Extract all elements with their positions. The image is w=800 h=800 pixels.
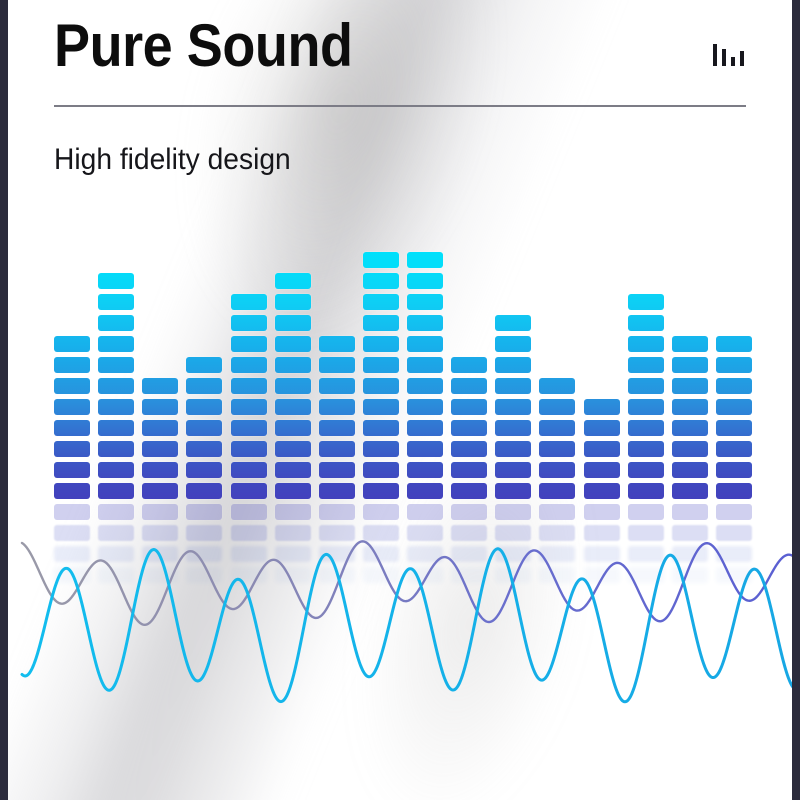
poster-card: Pure Sound High fidelity design — [0, 0, 800, 800]
equalizer-segment — [98, 399, 134, 415]
equalizer-icon-bar-2 — [722, 49, 726, 66]
equalizer-icon-bar-3 — [731, 57, 735, 66]
equalizer-segment — [363, 483, 399, 499]
equalizer-segment — [363, 441, 399, 457]
equalizer-segment — [142, 441, 178, 457]
equalizer-segment — [716, 336, 752, 352]
equalizer-column — [231, 294, 267, 499]
equalizer-segment — [539, 462, 575, 478]
equalizer-segment — [275, 294, 311, 310]
equalizer-column — [98, 273, 134, 499]
waveform-group — [8, 507, 792, 717]
equalizer-column — [54, 336, 90, 499]
equalizer-segment — [539, 441, 575, 457]
equalizer-segment — [407, 273, 443, 289]
equalizer-chart — [8, 229, 792, 499]
equalizer-segment — [319, 357, 355, 373]
lower-waveform — [22, 549, 796, 702]
equalizer-column — [319, 336, 355, 499]
equalizer-segment — [539, 399, 575, 415]
equalizer-segment — [672, 357, 708, 373]
equalizer-segment — [319, 420, 355, 436]
equalizer-segment — [231, 462, 267, 478]
equalizer-segment — [231, 357, 267, 373]
equalizer-icon — [713, 40, 744, 66]
equalizer-segment — [407, 441, 443, 457]
equalizer-segment — [407, 483, 443, 499]
equalizer-segment — [231, 378, 267, 394]
equalizer-segment — [319, 378, 355, 394]
page-title: Pure Sound — [54, 14, 353, 77]
equalizer-segment — [186, 441, 222, 457]
equalizer-segment — [363, 252, 399, 268]
equalizer-segment — [451, 441, 487, 457]
equalizer-segment — [363, 273, 399, 289]
equalizer-segment — [231, 420, 267, 436]
equalizer-segment — [98, 378, 134, 394]
equalizer-segment — [142, 378, 178, 394]
equalizer-column — [186, 357, 222, 499]
equalizer-segment — [716, 483, 752, 499]
equalizer-segment — [628, 399, 664, 415]
equalizer-segment — [186, 420, 222, 436]
equalizer-segment — [495, 357, 531, 373]
equalizer-segment — [186, 357, 222, 373]
equalizer-segment — [716, 357, 752, 373]
equalizer-segment — [407, 336, 443, 352]
equalizer-segment — [407, 399, 443, 415]
equalizer-column — [539, 378, 575, 499]
equalizer-segment — [231, 294, 267, 310]
equalizer-segment — [451, 357, 487, 373]
equalizer-segment — [231, 441, 267, 457]
equalizer-segment — [54, 357, 90, 373]
equalizer-segment — [716, 399, 752, 415]
equalizer-segment — [628, 315, 664, 331]
equalizer-segment — [319, 441, 355, 457]
equalizer-segment — [628, 420, 664, 436]
equalizer-segment — [672, 462, 708, 478]
equalizer-segment — [98, 462, 134, 478]
equalizer-segment — [716, 420, 752, 436]
equalizer-icon-bar-1 — [713, 44, 717, 66]
equalizer-segment — [628, 483, 664, 499]
equalizer-segment — [319, 336, 355, 352]
header-divider — [54, 105, 746, 107]
equalizer-segment — [716, 378, 752, 394]
equalizer-segment — [495, 378, 531, 394]
equalizer-segment — [495, 441, 531, 457]
equalizer-segment — [495, 483, 531, 499]
equalizer-segment — [319, 483, 355, 499]
equalizer-column — [407, 252, 443, 499]
equalizer-segment — [363, 336, 399, 352]
equalizer-segment — [628, 441, 664, 457]
equalizer-segment — [363, 357, 399, 373]
equalizer-segment — [672, 399, 708, 415]
equalizer-segment — [186, 462, 222, 478]
equalizer-segment — [716, 462, 752, 478]
equalizer-segment — [98, 294, 134, 310]
equalizer-segment — [628, 357, 664, 373]
equalizer-segment — [716, 441, 752, 457]
equalizer-segment — [628, 378, 664, 394]
equalizer-segment — [98, 441, 134, 457]
equalizer-segment — [319, 399, 355, 415]
equalizer-segment — [672, 420, 708, 436]
equalizer-segment — [231, 399, 267, 415]
equalizer-segment — [539, 483, 575, 499]
equalizer-segment — [186, 378, 222, 394]
equalizer-segment — [275, 273, 311, 289]
equalizer-segment — [407, 252, 443, 268]
equalizer-segment — [142, 483, 178, 499]
equalizer-segment — [275, 420, 311, 436]
equalizer-segment — [363, 294, 399, 310]
equalizer-column — [495, 315, 531, 499]
equalizer-segment — [672, 441, 708, 457]
equalizer-segment — [584, 462, 620, 478]
equalizer-segment — [495, 420, 531, 436]
equalizer-segment — [54, 441, 90, 457]
equalizer-segment — [54, 378, 90, 394]
equalizer-segment — [319, 462, 355, 478]
equalizer-segment — [98, 336, 134, 352]
equalizer-column — [628, 294, 664, 499]
equalizer-segment — [495, 462, 531, 478]
equalizer-segment — [275, 462, 311, 478]
equalizer-segment — [98, 420, 134, 436]
equalizer-segment — [275, 483, 311, 499]
equalizer-segment — [363, 420, 399, 436]
equalizer-segment — [407, 294, 443, 310]
equalizer-segment — [363, 378, 399, 394]
equalizer-segment — [98, 483, 134, 499]
equalizer-column — [363, 252, 399, 499]
equalizer-segment — [539, 420, 575, 436]
equalizer-segment — [495, 315, 531, 331]
equalizer-segment — [54, 420, 90, 436]
equalizer-segment — [275, 378, 311, 394]
equalizer-segment — [363, 315, 399, 331]
equalizer-segment — [363, 399, 399, 415]
equalizer-column — [716, 336, 752, 499]
equalizer-segment — [54, 336, 90, 352]
equalizer-segment — [98, 273, 134, 289]
equalizer-segment — [54, 483, 90, 499]
equalizer-segment — [98, 357, 134, 373]
equalizer-icon-bar-4 — [740, 51, 744, 66]
equalizer-segment — [142, 462, 178, 478]
equalizer-segment — [142, 399, 178, 415]
equalizer-segment — [451, 462, 487, 478]
equalizer-segment — [98, 315, 134, 331]
equalizer-segment — [584, 420, 620, 436]
equalizer-segment — [54, 462, 90, 478]
equalizer-segment — [451, 399, 487, 415]
equalizer-column — [584, 399, 620, 499]
equalizer-segment — [275, 399, 311, 415]
equalizer-segment — [672, 483, 708, 499]
equalizer-segment — [407, 315, 443, 331]
equalizer-segment — [275, 315, 311, 331]
equalizer-segment — [451, 420, 487, 436]
equalizer-segment — [628, 294, 664, 310]
poster-header: Pure Sound — [8, 0, 792, 77]
equalizer-segment — [584, 399, 620, 415]
equalizer-segment — [275, 357, 311, 373]
equalizer-column — [142, 378, 178, 499]
equalizer-segment — [451, 378, 487, 394]
equalizer-segment — [363, 462, 399, 478]
equalizer-segment — [584, 441, 620, 457]
equalizer-segment — [628, 336, 664, 352]
equalizer-segment — [584, 483, 620, 499]
equalizer-segment — [186, 399, 222, 415]
waveform-svg — [8, 507, 800, 717]
equalizer-segment — [451, 483, 487, 499]
equalizer-segment — [407, 420, 443, 436]
equalizer-segment — [495, 336, 531, 352]
equalizer-segment — [275, 336, 311, 352]
equalizer-segment — [672, 336, 708, 352]
equalizer-segment — [231, 336, 267, 352]
equalizer-segment — [628, 462, 664, 478]
equalizer-segment — [672, 378, 708, 394]
equalizer-column — [451, 357, 487, 499]
equalizer-column — [275, 273, 311, 499]
equalizer-segment — [539, 378, 575, 394]
equalizer-segment — [54, 399, 90, 415]
equalizer-segment — [407, 378, 443, 394]
equalizer-segment — [495, 399, 531, 415]
equalizer-segment — [142, 420, 178, 436]
equalizer-segment — [231, 483, 267, 499]
equalizer-segment — [186, 483, 222, 499]
equalizer-segment — [231, 315, 267, 331]
equalizer-segment — [275, 441, 311, 457]
equalizer-column — [672, 336, 708, 499]
equalizer-segment — [407, 462, 443, 478]
page-subtitle: High fidelity design — [54, 143, 748, 177]
equalizer-segment — [407, 357, 443, 373]
